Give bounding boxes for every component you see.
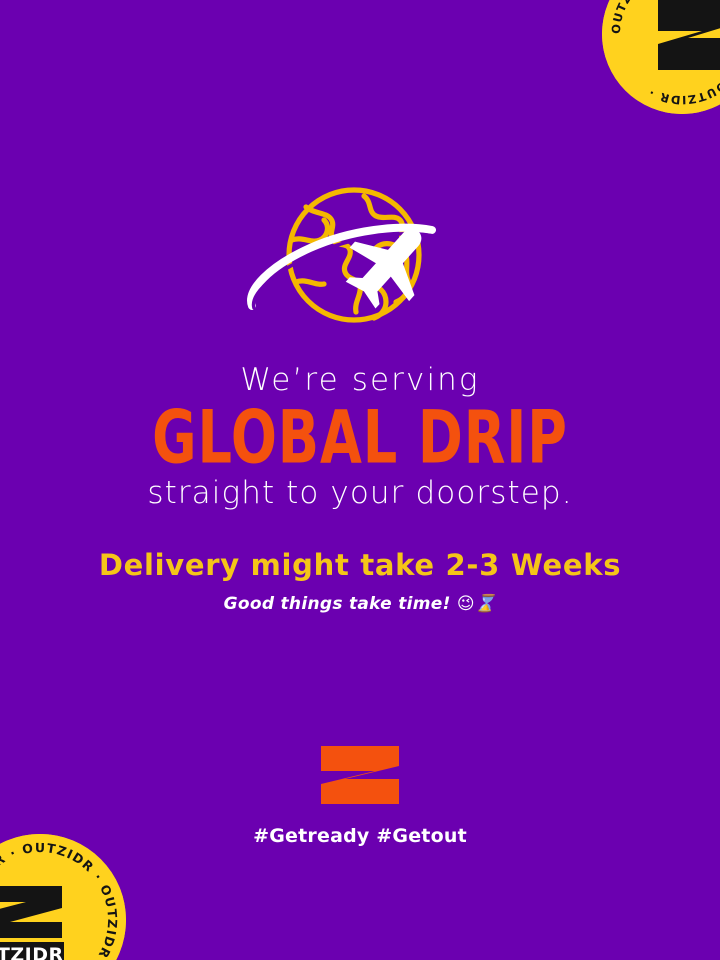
delivery-time-text: Delivery might take 2-3 Weeks bbox=[0, 548, 720, 582]
headline-subline: straight to your doorstep. bbox=[0, 477, 720, 510]
page-title: GLOBAL DRIP bbox=[50, 400, 669, 476]
brand-seal-top-right: OUTZIDR · OUTZIDR · OUTZIDR · OUTZIDR · bbox=[602, 0, 720, 114]
z-logo-mark bbox=[319, 744, 401, 806]
hashtags-text: #Getready #Getout bbox=[0, 825, 720, 847]
headline-kicker: We’re serving bbox=[0, 364, 720, 397]
delivery-notice-block: Delivery might take 2-3 Weeks Good thing… bbox=[0, 548, 720, 614]
headline-block: We’re serving GLOBAL DRIP straight to yo… bbox=[0, 364, 720, 510]
brand-seal-bottom-left: OUTZIDR · OUTZIDR · OUTZIDR · OUTZIDR · … bbox=[0, 834, 126, 960]
globe-airplane-icon bbox=[236, 178, 486, 343]
promo-poster: OUTZIDR · OUTZIDR · OUTZIDR · OUTZIDR · … bbox=[0, 0, 720, 960]
delivery-note-text: Good things take time! 😉⌛ bbox=[0, 594, 720, 614]
footer-block: #Getready #Getout bbox=[0, 744, 720, 847]
seal-wordmark: OUTZIDR bbox=[0, 944, 64, 960]
